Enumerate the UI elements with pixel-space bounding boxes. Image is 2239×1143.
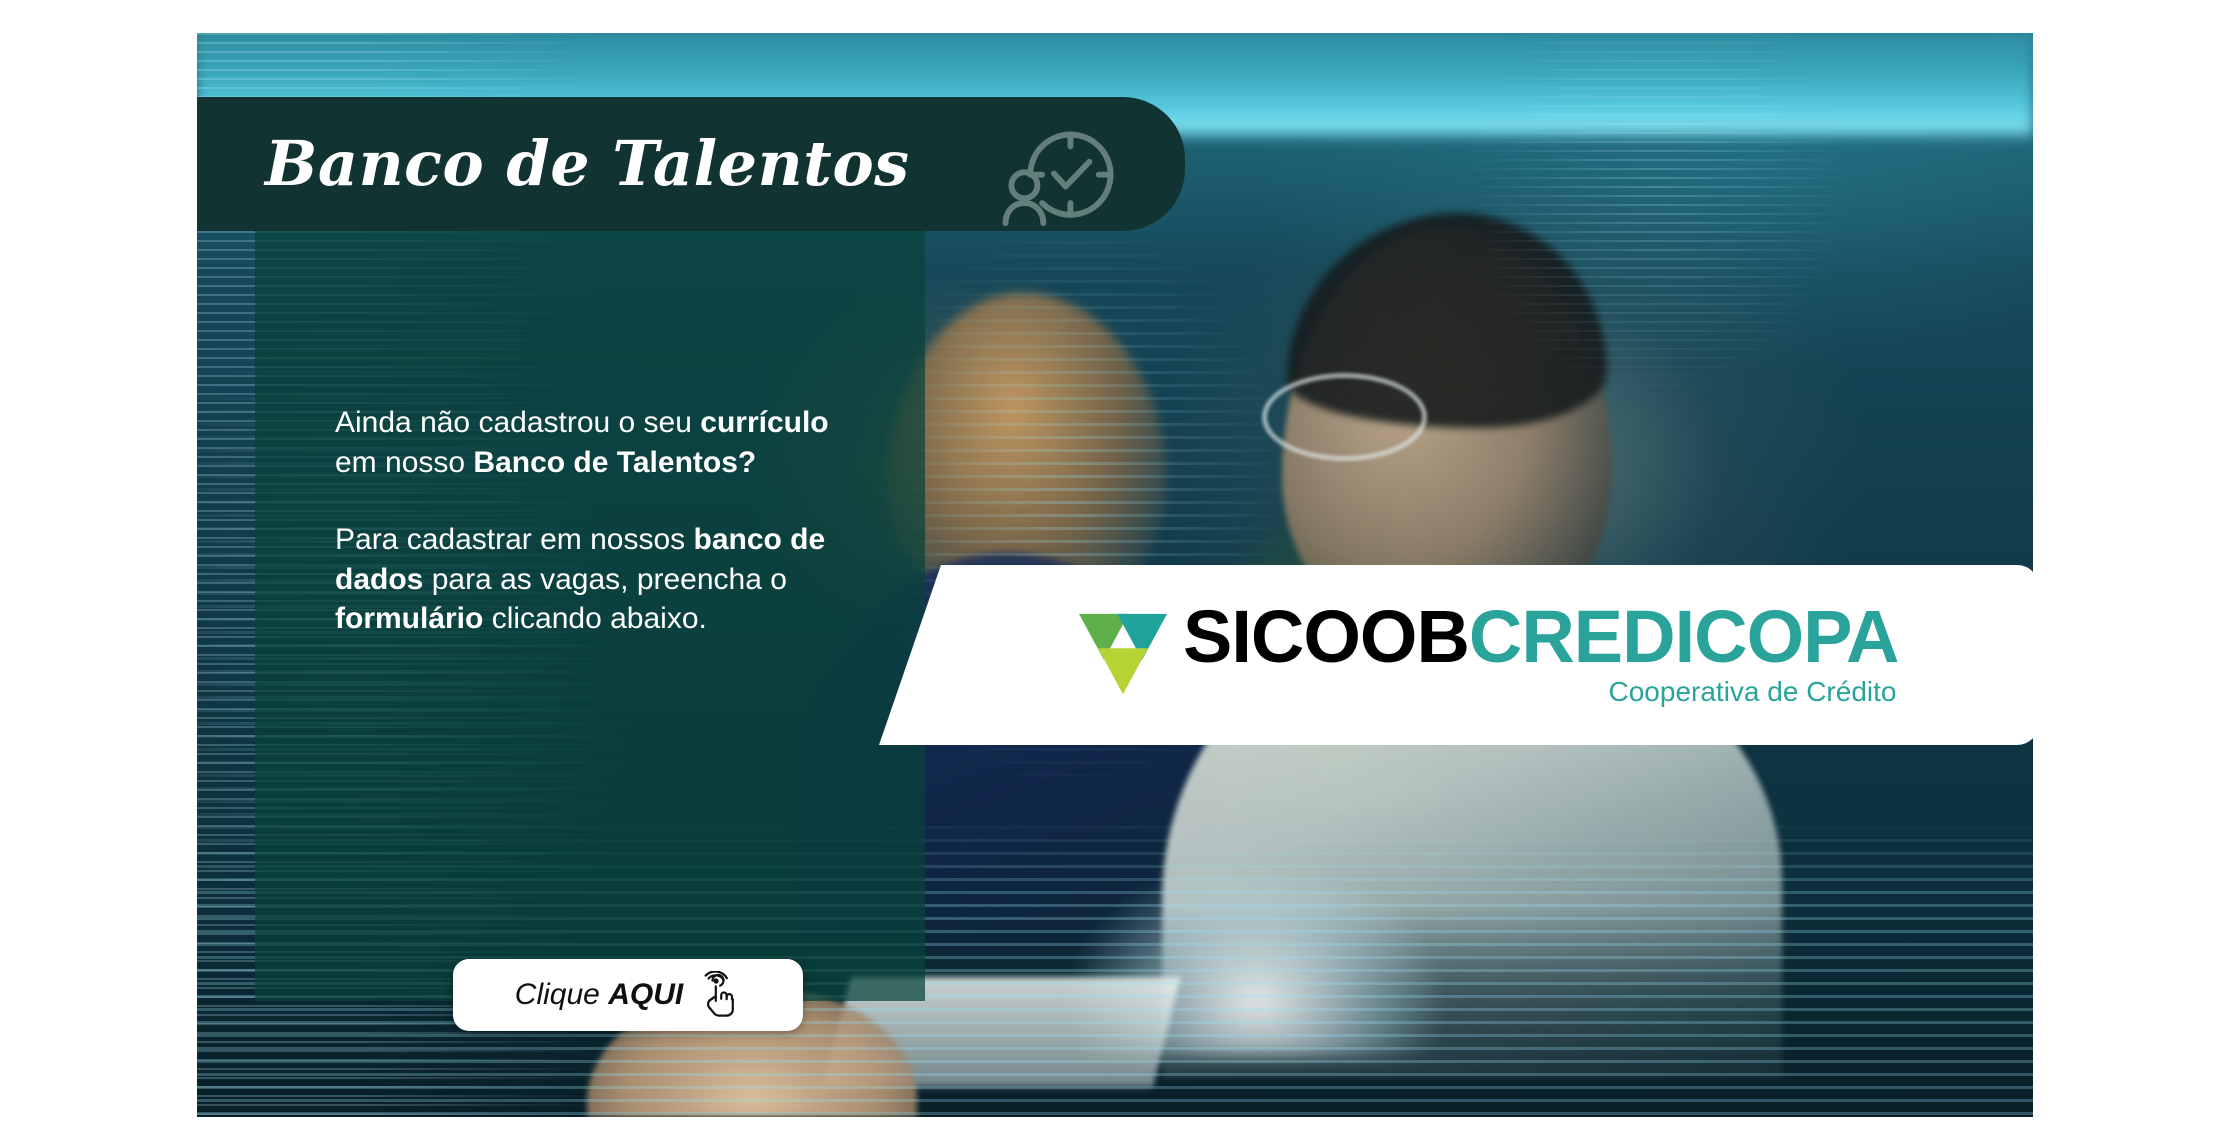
sicoob-wordmark: SICOOB CREDICOPA Cooperativa de Crédito <box>1183 602 1898 708</box>
brand-name: SICOOB CREDICOPA <box>1183 602 1898 672</box>
cta-label-bold: AQUI <box>608 978 683 1011</box>
clique-aqui-button[interactable]: Clique AQUI <box>453 959 803 1031</box>
cta-label: Clique AQUI <box>515 978 683 1012</box>
body-copy: Ainda não cadastrou o seu currículo em n… <box>335 403 855 677</box>
cta-label-normal: Clique <box>515 978 608 1011</box>
banner-creative: Ainda não cadastrou o seu currículo em n… <box>197 33 2033 1117</box>
paragraph-2-text-3: clicando abaixo. <box>483 602 706 635</box>
header-band: Banco de Talentos <box>197 97 1185 231</box>
content-panel: Ainda não cadastrou o seu currículo em n… <box>255 231 925 1001</box>
paragraph-1-text-2: em nosso <box>335 446 473 479</box>
tap-hand-icon <box>695 971 741 1019</box>
brand-credicopa: CREDICOPA <box>1469 602 1899 672</box>
sicoob-triangles-icon <box>1075 610 1171 700</box>
logo-card: SICOOB CREDICOPA Cooperativa de Crédito <box>879 565 2033 745</box>
brand-tagline: Cooperativa de Crédito <box>1609 676 1897 708</box>
paragraph-2-bold-2: formulário <box>335 602 483 635</box>
brand-sicoob: SICOOB <box>1183 602 1469 672</box>
paragraph-1-bold-2: Banco de Talentos? <box>473 446 756 479</box>
paragraph-1-text-1: Ainda não cadastrou o seu <box>335 406 700 439</box>
paragraph-1-bold-1: currículo <box>700 406 828 439</box>
paragraph-2-text-2: para as vagas, preencha o <box>423 563 787 596</box>
person-clock-icon <box>1002 111 1120 229</box>
page-title: Banco de Talentos <box>265 133 910 195</box>
logo-lockup: SICOOB CREDICOPA Cooperativa de Crédito <box>1075 602 1898 708</box>
paragraph-1: Ainda não cadastrou o seu currículo em n… <box>335 403 855 482</box>
background-person-man-glasses <box>1262 373 1427 461</box>
paragraph-2: Para cadastrar em nossos banco de dados … <box>335 520 855 639</box>
paragraph-2-text-1: Para cadastrar em nossos <box>335 523 694 556</box>
